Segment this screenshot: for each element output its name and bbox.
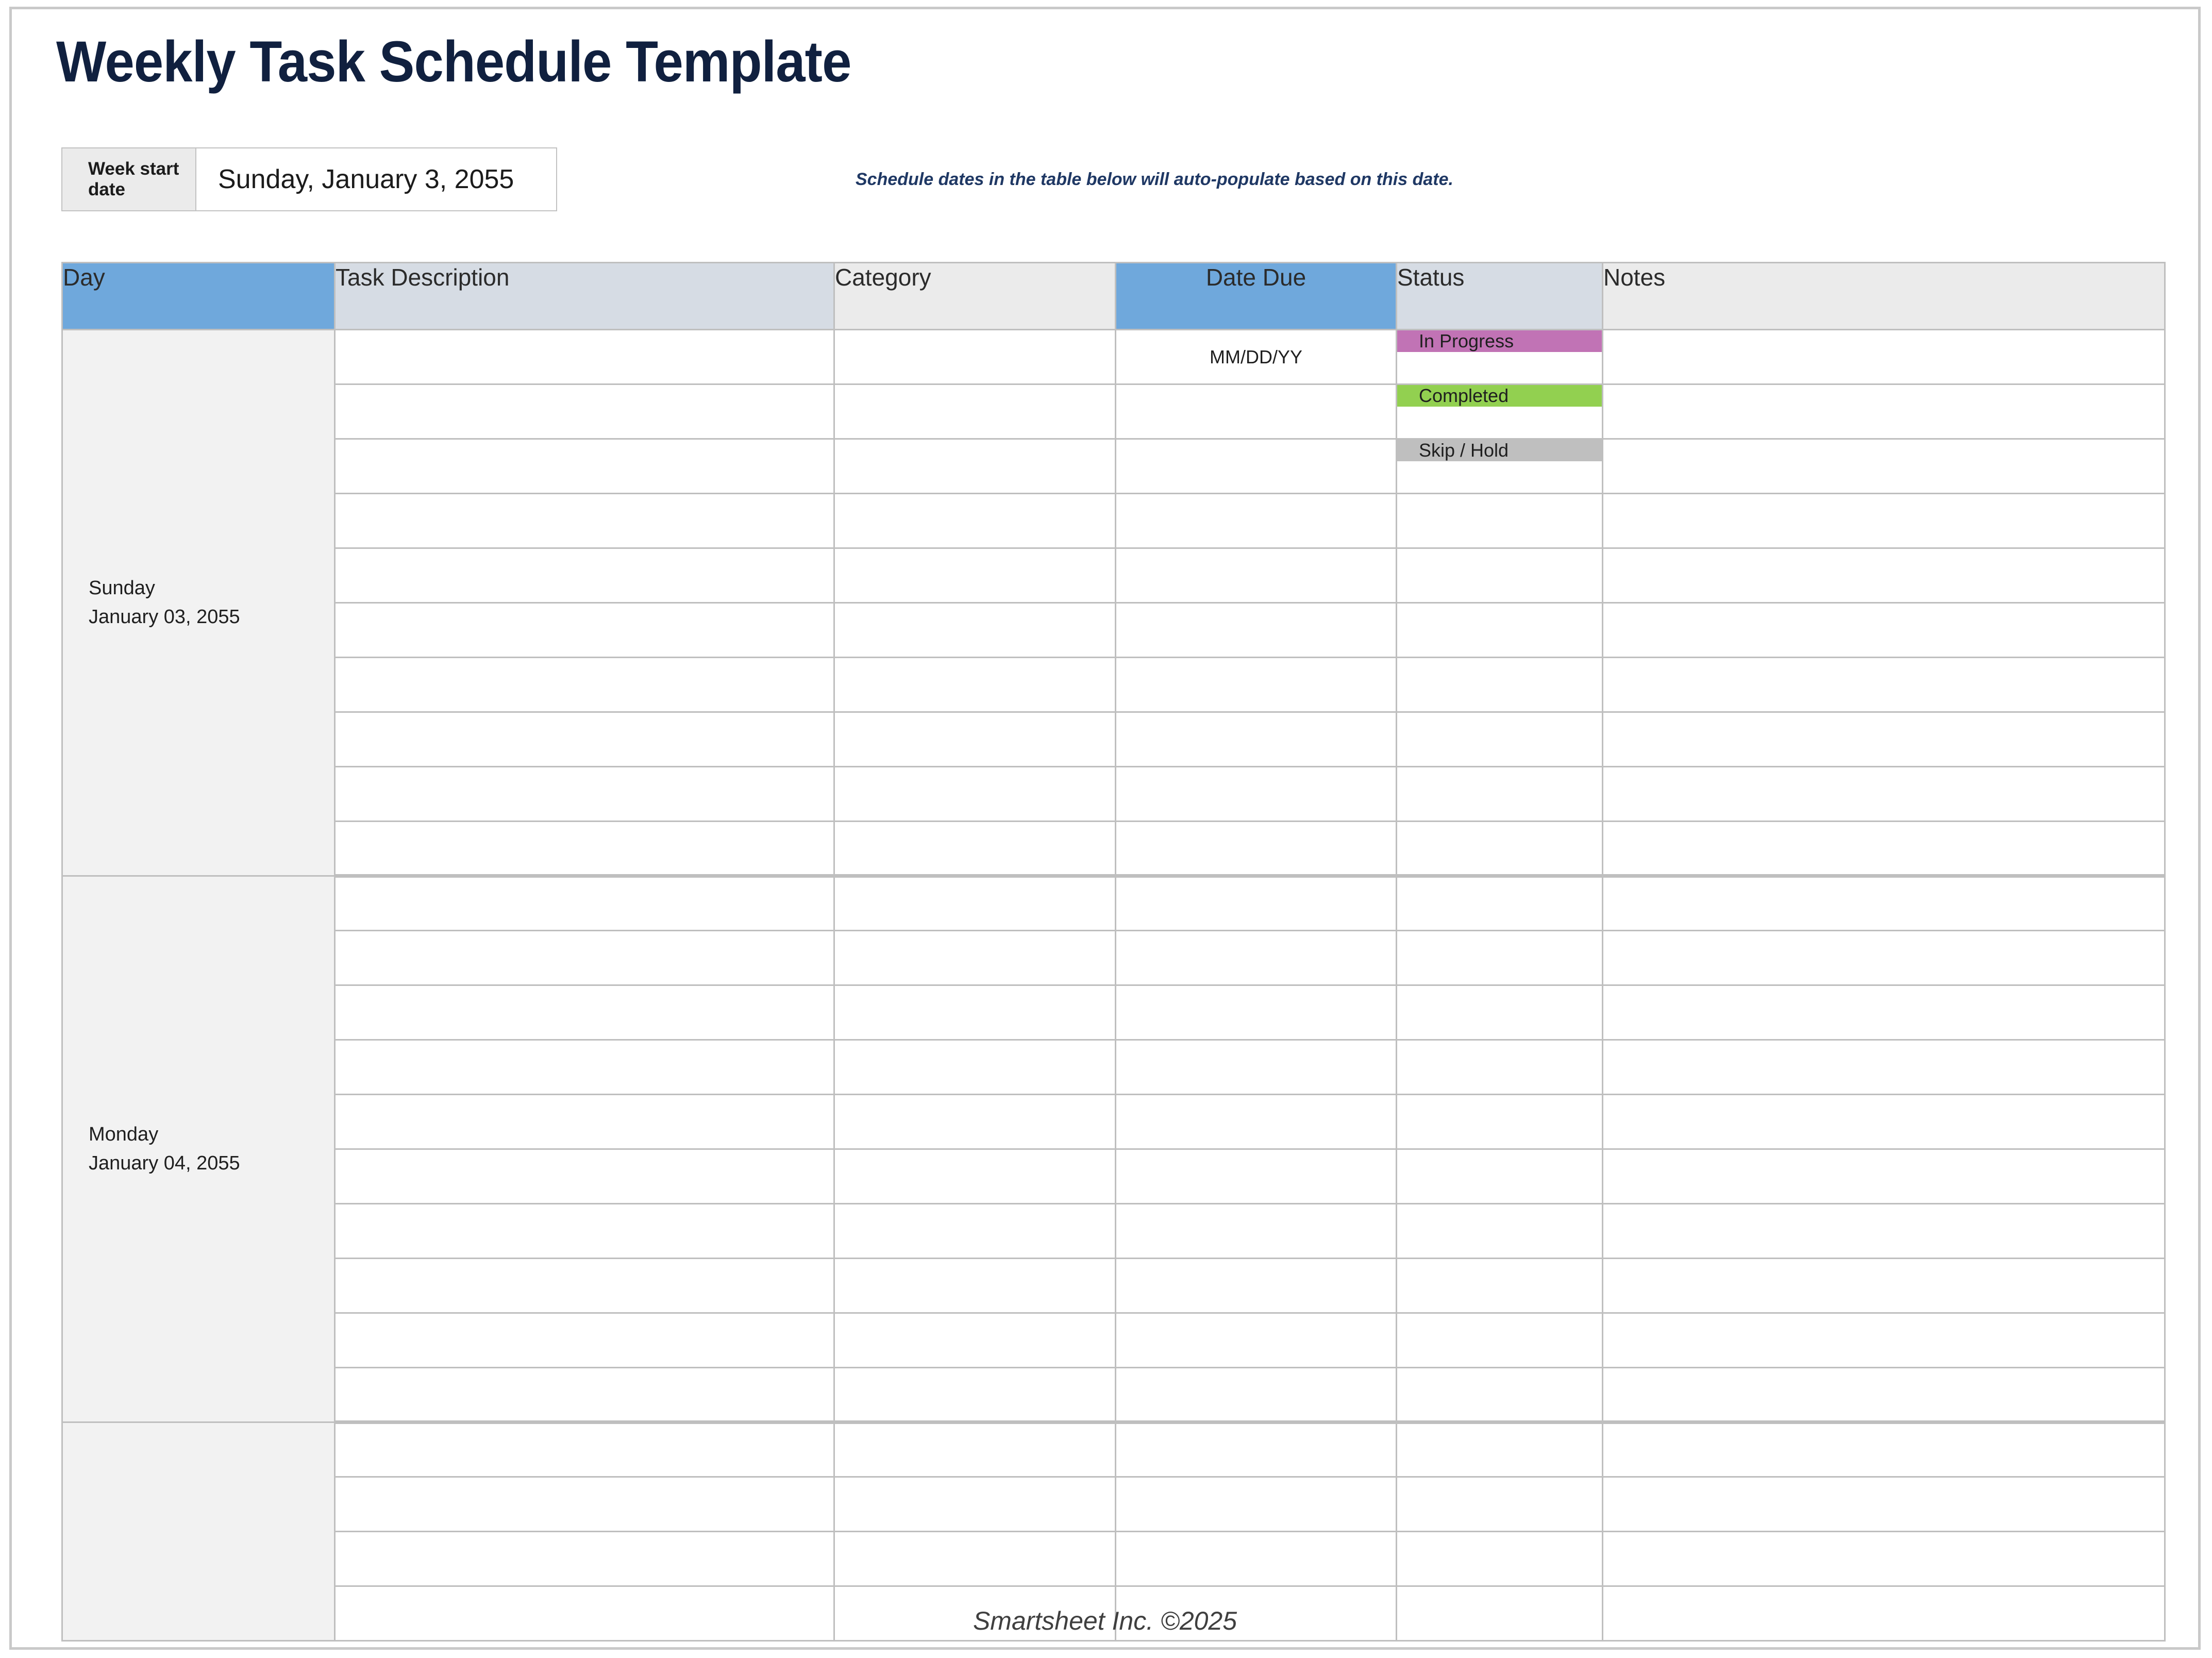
table-row: Completed	[62, 384, 2165, 439]
table-row	[62, 1095, 2165, 1149]
category-cell[interactable]	[834, 1204, 1116, 1259]
task-description-cell[interactable]	[335, 330, 834, 384]
status-cell[interactable]	[1397, 1040, 1603, 1095]
column-header-category[interactable]: Category	[834, 263, 1116, 330]
table-row	[62, 1422, 2165, 1477]
document-page: Weekly Task Schedule Template Week start…	[9, 7, 2201, 1650]
week-start-date-label: Week start date	[61, 147, 196, 211]
date-due-cell[interactable]	[1116, 548, 1397, 603]
date-due-cell[interactable]	[1116, 1259, 1397, 1313]
category-cell[interactable]	[834, 1149, 1116, 1204]
date-due-cell[interactable]	[1116, 384, 1397, 439]
status-cell[interactable]	[1397, 767, 1603, 822]
category-cell[interactable]	[834, 1313, 1116, 1368]
status-cell[interactable]: Completed	[1397, 384, 1603, 439]
page-title: Weekly Task Schedule Template	[56, 33, 851, 91]
table-row	[62, 985, 2165, 1040]
task-description-cell[interactable]	[335, 1532, 834, 1586]
date-due-cell[interactable]	[1116, 1313, 1397, 1368]
table-row	[62, 1149, 2165, 1204]
task-description-cell[interactable]	[335, 985, 834, 1040]
table-header: Day Task Description Category Date Due S…	[62, 263, 2165, 330]
status-cell[interactable]: In Progress	[1397, 330, 1603, 384]
table-row	[62, 1204, 2165, 1259]
notes-cell[interactable]	[1603, 712, 2165, 767]
day-name: Sunday	[89, 574, 334, 602]
task-description-cell[interactable]	[335, 548, 834, 603]
task-description-cell[interactable]	[335, 1149, 834, 1204]
status-badge-skip-hold[interactable]: Skip / Hold	[1397, 440, 1602, 461]
date-due-cell[interactable]	[1116, 1204, 1397, 1259]
category-cell[interactable]	[834, 1095, 1116, 1149]
category-cell[interactable]	[834, 985, 1116, 1040]
status-cell[interactable]	[1397, 1095, 1603, 1149]
task-description-cell[interactable]	[335, 822, 834, 876]
task-description-cell[interactable]	[335, 658, 834, 712]
status-cell[interactable]	[1397, 1532, 1603, 1586]
column-header-date-due[interactable]: Date Due	[1116, 263, 1397, 330]
status-cell[interactable]	[1397, 1313, 1603, 1368]
category-cell[interactable]	[834, 384, 1116, 439]
week-start-date-hint: Schedule dates in the table below will a…	[856, 147, 1453, 211]
notes-cell[interactable]	[1603, 1095, 2165, 1149]
table-header-row: Day Task Description Category Date Due S…	[62, 263, 2165, 330]
week-start-date-group: Week start date Sunday, January 3, 2055	[61, 147, 557, 211]
notes-cell[interactable]	[1603, 603, 2165, 658]
notes-cell[interactable]	[1603, 548, 2165, 603]
category-cell[interactable]	[834, 658, 1116, 712]
status-cell[interactable]	[1397, 1422, 1603, 1477]
notes-cell[interactable]	[1603, 658, 2165, 712]
date-due-cell[interactable]	[1116, 712, 1397, 767]
day-date: January 03, 2055	[89, 603, 334, 631]
task-description-cell[interactable]	[335, 1477, 834, 1532]
column-header-task-description[interactable]: Task Description	[335, 263, 834, 330]
category-cell[interactable]	[834, 330, 1116, 384]
status-cell[interactable]	[1397, 1368, 1603, 1422]
status-cell[interactable]	[1397, 658, 1603, 712]
table-row	[62, 548, 2165, 603]
status-cell[interactable]	[1397, 712, 1603, 767]
day-cell-monday[interactable]: Monday January 04, 2055	[62, 876, 335, 1422]
task-description-cell[interactable]	[335, 1095, 834, 1149]
status-cell[interactable]	[1397, 876, 1603, 931]
task-description-cell[interactable]	[335, 767, 834, 822]
week-start-date-input[interactable]: Sunday, January 3, 2055	[196, 147, 557, 211]
date-due-cell[interactable]	[1116, 603, 1397, 658]
notes-cell[interactable]	[1603, 1040, 2165, 1095]
date-due-cell[interactable]	[1116, 1149, 1397, 1204]
column-header-status[interactable]: Status	[1397, 263, 1603, 330]
table-row	[62, 1477, 2165, 1532]
category-cell[interactable]	[834, 931, 1116, 985]
notes-cell[interactable]	[1603, 767, 2165, 822]
status-cell[interactable]	[1397, 931, 1603, 985]
category-cell[interactable]	[834, 439, 1116, 494]
status-badge-completed[interactable]: Completed	[1397, 385, 1602, 407]
status-badge-in-progress[interactable]: In Progress	[1397, 330, 1602, 352]
task-description-cell[interactable]	[335, 439, 834, 494]
status-cell[interactable]	[1397, 1204, 1603, 1259]
category-cell[interactable]	[834, 494, 1116, 548]
day-date: January 04, 2055	[89, 1149, 334, 1178]
table-row: Skip / Hold	[62, 439, 2165, 494]
notes-cell[interactable]	[1603, 1149, 2165, 1204]
task-description-cell[interactable]	[335, 1040, 834, 1095]
date-due-cell[interactable]	[1116, 1422, 1397, 1477]
table-row	[62, 494, 2165, 548]
status-cell[interactable]	[1397, 985, 1603, 1040]
notes-cell[interactable]	[1603, 1313, 2165, 1368]
notes-cell[interactable]	[1603, 1204, 2165, 1259]
table-row	[62, 1259, 2165, 1313]
page-inner: Weekly Task Schedule Template Week start…	[12, 9, 2198, 1647]
day-cell-sunday[interactable]: Sunday January 03, 2055	[62, 330, 335, 876]
table-body: Sunday January 03, 2055 MM/DD/YY In Prog…	[62, 330, 2165, 1641]
notes-cell[interactable]	[1603, 876, 2165, 931]
category-cell[interactable]	[834, 822, 1116, 876]
category-cell[interactable]	[834, 1259, 1116, 1313]
date-due-cell[interactable]	[1116, 494, 1397, 548]
category-cell[interactable]	[834, 876, 1116, 931]
status-cell[interactable]: Skip / Hold	[1397, 439, 1603, 494]
notes-cell[interactable]	[1603, 931, 2165, 985]
table-row	[62, 712, 2165, 767]
date-due-cell[interactable]	[1116, 985, 1397, 1040]
table-row	[62, 1313, 2165, 1368]
task-description-cell[interactable]	[335, 1259, 834, 1313]
date-due-cell[interactable]	[1116, 1095, 1397, 1149]
date-due-cell[interactable]	[1116, 439, 1397, 494]
notes-cell[interactable]	[1603, 1368, 2165, 1422]
task-description-cell[interactable]	[335, 384, 834, 439]
notes-cell[interactable]	[1603, 494, 2165, 548]
notes-cell[interactable]	[1603, 384, 2165, 439]
date-due-cell[interactable]	[1116, 931, 1397, 985]
date-due-cell[interactable]	[1116, 1040, 1397, 1095]
footer-copyright: Smartsheet Inc. ©2025	[12, 1606, 2198, 1636]
day-name: Monday	[89, 1120, 334, 1149]
table-row	[62, 658, 2165, 712]
date-due-cell[interactable]	[1116, 822, 1397, 876]
task-description-cell[interactable]	[335, 494, 834, 548]
task-description-cell[interactable]	[335, 1422, 834, 1477]
table-row	[62, 931, 2165, 985]
table-row	[62, 603, 2165, 658]
table-row	[62, 1532, 2165, 1586]
date-due-cell[interactable]	[1116, 658, 1397, 712]
category-cell[interactable]	[834, 1040, 1116, 1095]
task-description-cell[interactable]	[335, 1313, 834, 1368]
status-cell[interactable]	[1397, 1149, 1603, 1204]
notes-cell[interactable]	[1603, 1532, 2165, 1586]
task-description-cell[interactable]	[335, 603, 834, 658]
notes-cell[interactable]	[1603, 985, 2165, 1040]
status-cell[interactable]	[1397, 1259, 1603, 1313]
category-cell[interactable]	[834, 712, 1116, 767]
category-cell[interactable]	[834, 548, 1116, 603]
column-header-notes[interactable]: Notes	[1603, 263, 2165, 330]
status-cell[interactable]	[1397, 603, 1603, 658]
date-due-cell[interactable]	[1116, 1368, 1397, 1422]
category-cell[interactable]	[834, 1532, 1116, 1586]
task-description-cell[interactable]	[335, 876, 834, 931]
table-row	[62, 822, 2165, 876]
table-row	[62, 767, 2165, 822]
date-due-cell[interactable]	[1116, 1532, 1397, 1586]
category-cell[interactable]	[834, 1477, 1116, 1532]
notes-cell[interactable]	[1603, 1259, 2165, 1313]
column-header-day[interactable]: Day	[62, 263, 335, 330]
notes-cell[interactable]	[1603, 1422, 2165, 1477]
category-cell[interactable]	[834, 603, 1116, 658]
category-cell[interactable]	[834, 1368, 1116, 1422]
task-description-cell[interactable]	[335, 931, 834, 985]
table-row	[62, 1040, 2165, 1095]
notes-cell[interactable]	[1603, 330, 2165, 384]
table-row: Monday January 04, 2055	[62, 876, 2165, 931]
table-row: Sunday January 03, 2055 MM/DD/YY In Prog…	[62, 330, 2165, 384]
date-due-cell[interactable]	[1116, 767, 1397, 822]
status-cell[interactable]	[1397, 494, 1603, 548]
category-cell[interactable]	[834, 1422, 1116, 1477]
notes-cell[interactable]	[1603, 1477, 2165, 1532]
status-cell[interactable]	[1397, 822, 1603, 876]
task-description-cell[interactable]	[335, 1204, 834, 1259]
task-description-cell[interactable]	[335, 712, 834, 767]
notes-cell[interactable]	[1603, 822, 2165, 876]
date-due-cell[interactable]	[1116, 1477, 1397, 1532]
weekly-task-schedule-table: Day Task Description Category Date Due S…	[61, 262, 2166, 1642]
status-cell[interactable]	[1397, 548, 1603, 603]
status-cell[interactable]	[1397, 1477, 1603, 1532]
notes-cell[interactable]	[1603, 439, 2165, 494]
table-row	[62, 1368, 2165, 1422]
date-due-cell[interactable]: MM/DD/YY	[1116, 330, 1397, 384]
task-description-cell[interactable]	[335, 1368, 834, 1422]
category-cell[interactable]	[834, 767, 1116, 822]
date-due-cell[interactable]	[1116, 876, 1397, 931]
